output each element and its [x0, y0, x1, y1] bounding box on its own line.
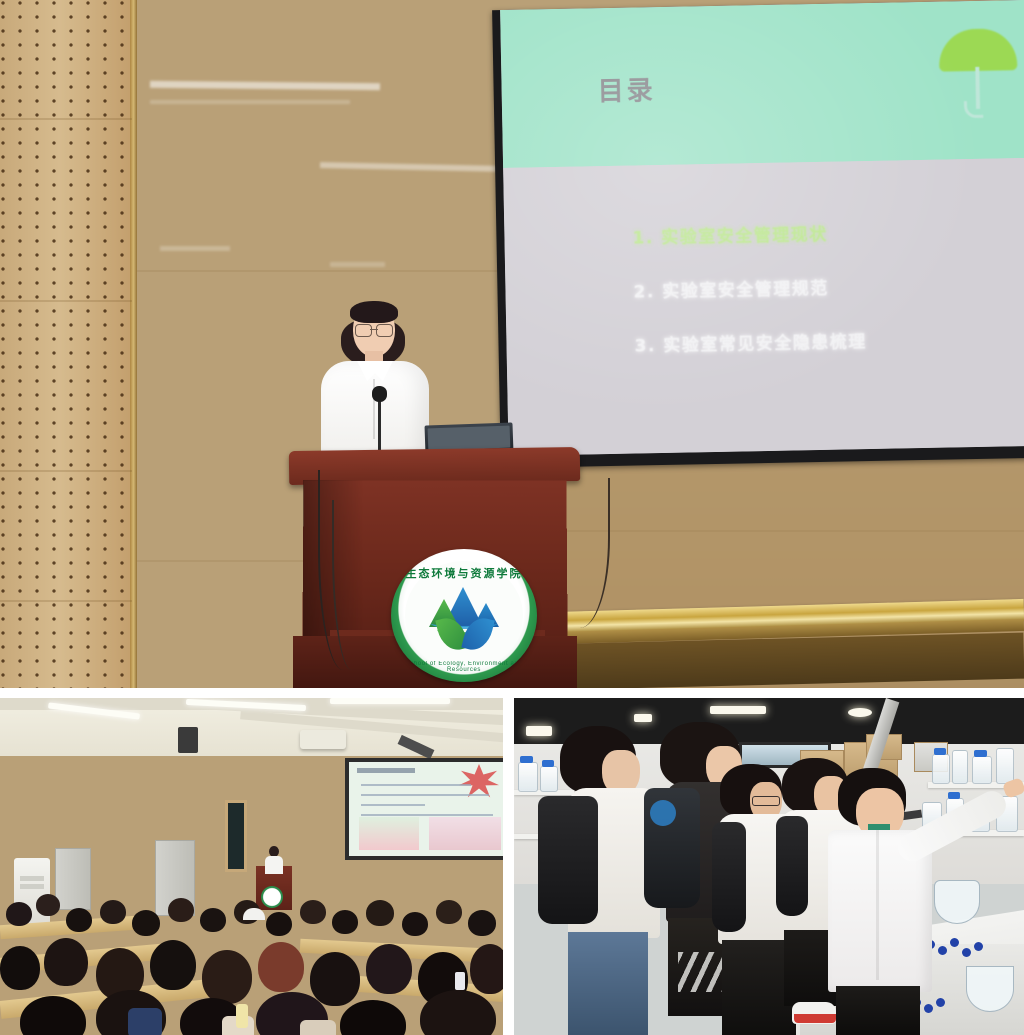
white-shirt — [321, 361, 429, 463]
audience-crowd — [0, 886, 503, 1035]
slide-title-bar — [357, 768, 415, 773]
ac-vent — [20, 876, 44, 881]
bottom-left-photo-audience — [0, 698, 503, 1035]
backpack-logo — [650, 800, 676, 826]
jeans — [568, 932, 648, 1035]
slide-list-item-2: 2. 实验室安全管理规范 — [633, 274, 829, 303]
slide-text-line — [361, 814, 493, 816]
wall-seam — [130, 0, 137, 688]
plank-seam — [557, 530, 1024, 532]
slide-image-panel-right — [429, 817, 501, 850]
plank-seam — [0, 470, 132, 472]
slide-header-band — [500, 0, 1024, 168]
coat-placket — [876, 830, 879, 980]
ceiling-light — [848, 708, 872, 717]
ceiling-light — [330, 698, 450, 704]
bottle-cap — [974, 750, 987, 757]
emblem-chinese-text: 生态环境与资源学院 — [391, 565, 537, 581]
ceiling-light — [634, 714, 652, 722]
wall-light-reflection — [330, 262, 385, 267]
presenter-person — [315, 293, 435, 463]
acoustic-wall-panel-left — [0, 0, 132, 688]
microphone-icon — [372, 386, 387, 402]
plank-seam — [0, 118, 132, 120]
slide-list-item-1: 1. 实验室安全管理现状 — [632, 220, 828, 249]
slide-text-line — [361, 794, 489, 796]
researcher-lab-coat — [828, 768, 968, 1035]
wall-light-reflection — [160, 246, 230, 251]
school-emblem: 生态环境与资源学院 School of Ecology, Environment… — [391, 549, 537, 682]
bottom-right-photo-lab-tour — [514, 698, 1024, 1035]
reagent-bottle — [518, 762, 538, 792]
phone-icon — [455, 972, 465, 990]
slide-image-panel-left — [359, 817, 419, 850]
red-starburst-icon — [459, 764, 499, 798]
plank-seam — [0, 600, 132, 602]
bottle-cap — [520, 756, 533, 763]
projection-screen: 目录 1. 实验室安全管理现状 2. 实验室安全管理规范 3. 实验室常见安全隐… — [500, 0, 1024, 456]
white-cap-icon — [243, 908, 265, 920]
slide-list-item-3: 3. 实验室常见安全隐患梳理 — [634, 327, 867, 356]
speaker-icon — [178, 727, 198, 753]
hair-fringe — [350, 301, 398, 323]
dark-trousers — [836, 986, 920, 1035]
collage-page: 目录 1. 实验室安全管理现状 2. 实验室安全管理规范 3. 实验室常见安全隐… — [0, 0, 1024, 1035]
backpack — [538, 796, 598, 924]
slide-title: 目录 — [597, 70, 656, 108]
slide-text-line — [361, 804, 425, 806]
seated-shoulder — [300, 1020, 336, 1035]
wall-light-reflection — [150, 100, 350, 104]
backpack — [712, 822, 746, 932]
round-flask — [966, 966, 1014, 1012]
plank-seam — [0, 300, 132, 302]
bottle-cap — [934, 748, 946, 755]
ceiling-projector-icon — [300, 730, 346, 749]
seated-shoulder — [128, 1008, 162, 1035]
drink-cup-icon — [236, 1004, 248, 1028]
glasses-icon — [355, 324, 393, 335]
reagent-bottle — [996, 748, 1014, 784]
main-photo-lecture-speaker: 目录 1. 实验室安全管理现状 2. 实验室安全管理规范 3. 实验室常见安全隐… — [0, 0, 1024, 688]
window-icon — [225, 800, 247, 872]
backpack — [776, 816, 808, 916]
lecture-projection-screen — [345, 758, 503, 860]
slide-body: 1. 实验室安全管理现状 2. 实验室安全管理规范 3. 实验室常见安全隐患梳理 — [503, 158, 1024, 456]
ceiling-light — [710, 706, 766, 714]
reagent-bottle — [972, 756, 992, 784]
emblem-artwork — [427, 587, 501, 649]
slide-text-line — [361, 784, 471, 786]
presenter-small — [265, 846, 283, 872]
emblem-english-text: School of Ecology, Environment and Resou… — [391, 661, 537, 673]
plank-seam — [137, 270, 557, 272]
umbrella-icon — [938, 22, 1018, 119]
